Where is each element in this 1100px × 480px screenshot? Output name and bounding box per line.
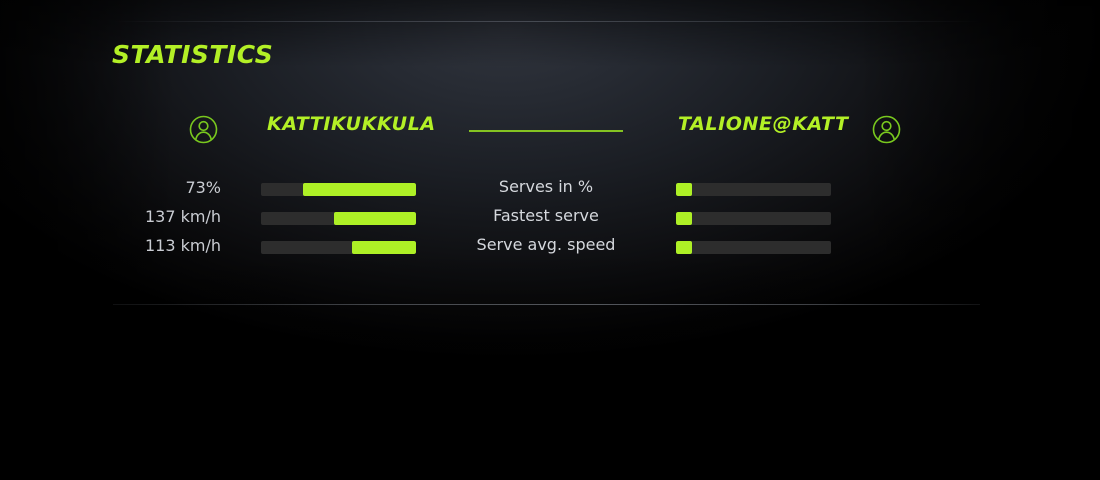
stat-bar-left-fill	[303, 183, 416, 196]
statistics-panel: STATISTICS KATTIKUKKULA TALIONE@KATT 73%	[0, 0, 1100, 480]
stat-value-left: 113 km/h	[51, 236, 221, 255]
stats-list: 73% Serves in % 137 km/h Fastest serve 1…	[0, 176, 1100, 263]
stat-bar-left-fill	[352, 241, 416, 254]
table-row: 137 km/h Fastest serve	[0, 205, 1100, 234]
table-row: 73% Serves in %	[0, 176, 1100, 205]
player-name-right: TALIONE@KATT	[678, 113, 849, 135]
stat-bar-right-fill	[676, 241, 692, 254]
header-rule	[469, 130, 623, 132]
players-header: KATTIKUKKULA TALIONE@KATT	[0, 112, 1100, 148]
stat-bar-right	[676, 241, 831, 254]
divider-top	[113, 21, 980, 22]
player-name-left: KATTIKUKKULA	[267, 113, 436, 135]
stat-value-left: 73%	[51, 178, 221, 197]
stat-bar-left	[261, 212, 416, 225]
person-circle-icon	[872, 115, 901, 144]
table-row: 113 km/h Serve avg. speed	[0, 234, 1100, 263]
stat-bar-left-fill	[334, 212, 416, 225]
stat-bar-left	[261, 183, 416, 196]
stat-bar-right-fill	[676, 212, 692, 225]
stat-label: Fastest serve	[426, 206, 666, 225]
stat-label: Serve avg. speed	[426, 235, 666, 254]
stat-bar-left	[261, 241, 416, 254]
stat-value-left: 137 km/h	[51, 207, 221, 226]
page-title: STATISTICS	[112, 40, 273, 69]
stat-label: Serves in %	[426, 177, 666, 196]
stat-bar-right	[676, 183, 831, 196]
stat-bar-right-fill	[676, 183, 692, 196]
divider-bottom	[113, 304, 980, 305]
person-circle-icon	[189, 115, 218, 144]
stat-bar-right	[676, 212, 831, 225]
